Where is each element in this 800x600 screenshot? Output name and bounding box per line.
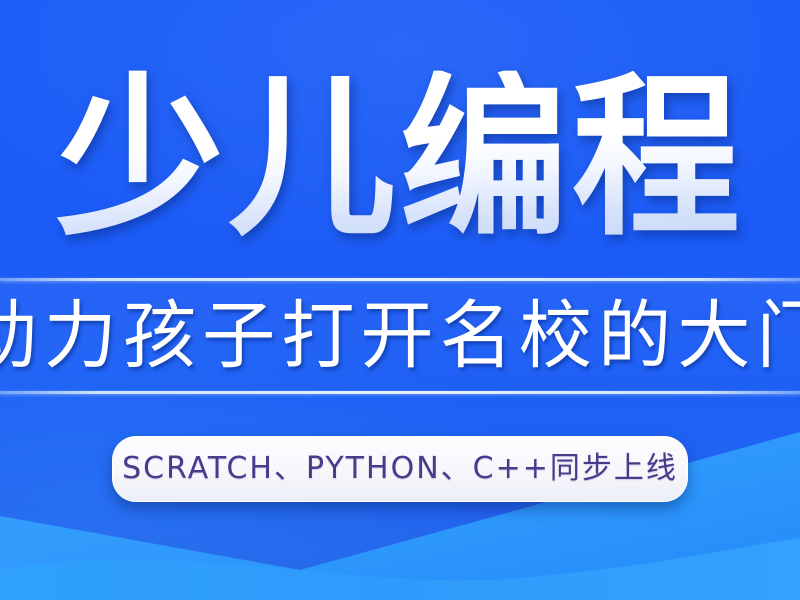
subtitle-container: 助力孩子打开名校的大门 xyxy=(0,281,800,391)
page-title: 少儿编程 xyxy=(56,71,744,246)
promo-poster: 少儿编程 助力孩子打开名校的大门 SCRATCH、PYTHON、C++同步上线 xyxy=(0,0,800,600)
course-badge-label: SCRATCH、PYTHON、C++同步上线 xyxy=(122,454,678,484)
headline-container: 少儿编程 xyxy=(0,58,800,258)
divider-line-bottom xyxy=(0,391,800,394)
subtitle-text: 助力孩子打开名校的大门 xyxy=(0,299,800,373)
course-badge-container: SCRATCH、PYTHON、C++同步上线 xyxy=(0,436,800,502)
course-badge[interactable]: SCRATCH、PYTHON、C++同步上线 xyxy=(112,436,688,502)
